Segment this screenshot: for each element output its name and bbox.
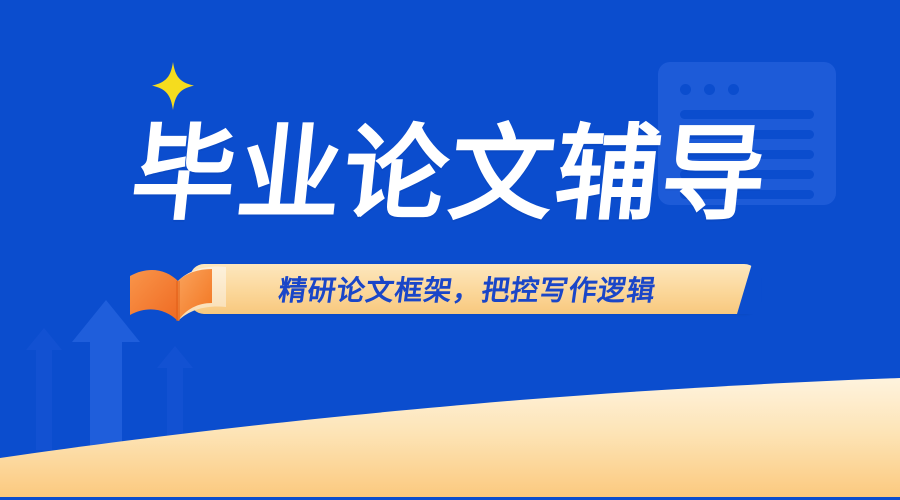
window-dot-1 (680, 84, 691, 95)
bottom-wave-shape (0, 370, 900, 500)
open-book-icon (128, 263, 228, 331)
subtitle-text: 精研论文框架，把控写作逻辑 (277, 269, 660, 309)
window-dot-3 (728, 84, 739, 95)
window-control-dots (680, 84, 739, 95)
subtitle-banner: 精研论文框架，把控写作逻辑 (190, 264, 760, 314)
sparkle-star-icon (152, 62, 194, 110)
page-title: 毕业论文辅导 (127, 122, 774, 226)
title-container: 毕业论文辅导 (0, 104, 900, 244)
poster-canvas: 毕业论文辅导 精研论文框架，把控写作逻辑 (0, 0, 900, 500)
window-dot-2 (704, 84, 715, 95)
